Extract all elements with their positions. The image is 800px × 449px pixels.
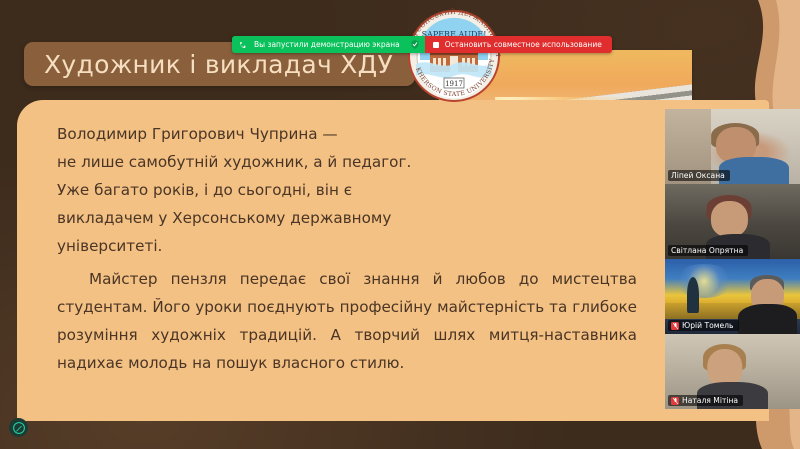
stop-square-icon xyxy=(433,42,439,48)
paragraph-one-line: університеті. xyxy=(57,232,477,260)
paragraph-two: Майстер пензля передає свої знання й люб… xyxy=(57,265,637,377)
participant-name-tag: Ліпей Оксана xyxy=(668,170,730,181)
participant-tile[interactable]: Наталя Мітіна xyxy=(665,334,800,409)
mic-muted-icon xyxy=(671,397,679,405)
paragraph-one-line: Володимир Григорович Чуприна — xyxy=(57,120,477,148)
pen-icon xyxy=(13,422,25,434)
slide-title-text: Художник і викладач ХДУ xyxy=(44,50,393,79)
shared-screen: Володимир Григорович Чуприна — не лише с… xyxy=(0,0,800,449)
participant-name-tag: Світлана Опрятна xyxy=(668,245,748,256)
paragraph-one-line: Уже багато років, і до сьогодні, він є xyxy=(57,176,477,204)
mic-muted-icon xyxy=(671,322,679,330)
logo-year-text: 1917 xyxy=(445,80,463,88)
slide-content-panel: Володимир Григорович Чуприна — не лише с… xyxy=(17,100,769,421)
stop-sharing-label: Остановить совместное использование xyxy=(445,40,602,49)
participant-name: Світлана Опрятна xyxy=(671,246,743,255)
university-logo: SAPERE AUDE! 1917 ХЕРСОНСЬКИЙ ДЕРЖАВНИЙ … xyxy=(396,8,512,104)
paragraph-one-line: не лише самобутній художник, а й педагог… xyxy=(57,148,477,176)
sharing-status: Вы запустили демонстрацию экрана xyxy=(232,36,409,53)
participant-name-tag: Наталя Мітіна xyxy=(668,395,743,406)
participant-name: Наталя Мітіна xyxy=(682,396,738,405)
paragraph-one: Володимир Григорович Чуприна — не лише с… xyxy=(57,120,477,260)
participant-tile[interactable]: Юрій Томель xyxy=(665,259,800,334)
participant-video-strip: Ліпей Оксана Світлана Опрятна xyxy=(665,109,800,409)
phone-icon xyxy=(239,41,247,49)
participant-tile[interactable]: Світлана Опрятна xyxy=(665,184,800,259)
stop-sharing-button[interactable]: Остановить совместное использование xyxy=(425,36,612,53)
paragraph-one-line: викладачем у Херсонському державному xyxy=(57,204,477,232)
screen-share-notification: Вы запустили демонстрацию экрана Останов… xyxy=(232,36,612,53)
editor-brand-badge[interactable] xyxy=(9,418,28,437)
shield-icon xyxy=(409,36,425,53)
participant-name-tag: Юрій Томель xyxy=(668,320,739,331)
participant-tile[interactable]: Ліпей Оксана xyxy=(665,109,800,184)
participant-name: Ліпей Оксана xyxy=(671,171,725,180)
participant-name: Юрій Томель xyxy=(682,321,734,330)
sharing-status-text: Вы запустили демонстрацию экрана xyxy=(254,40,400,49)
